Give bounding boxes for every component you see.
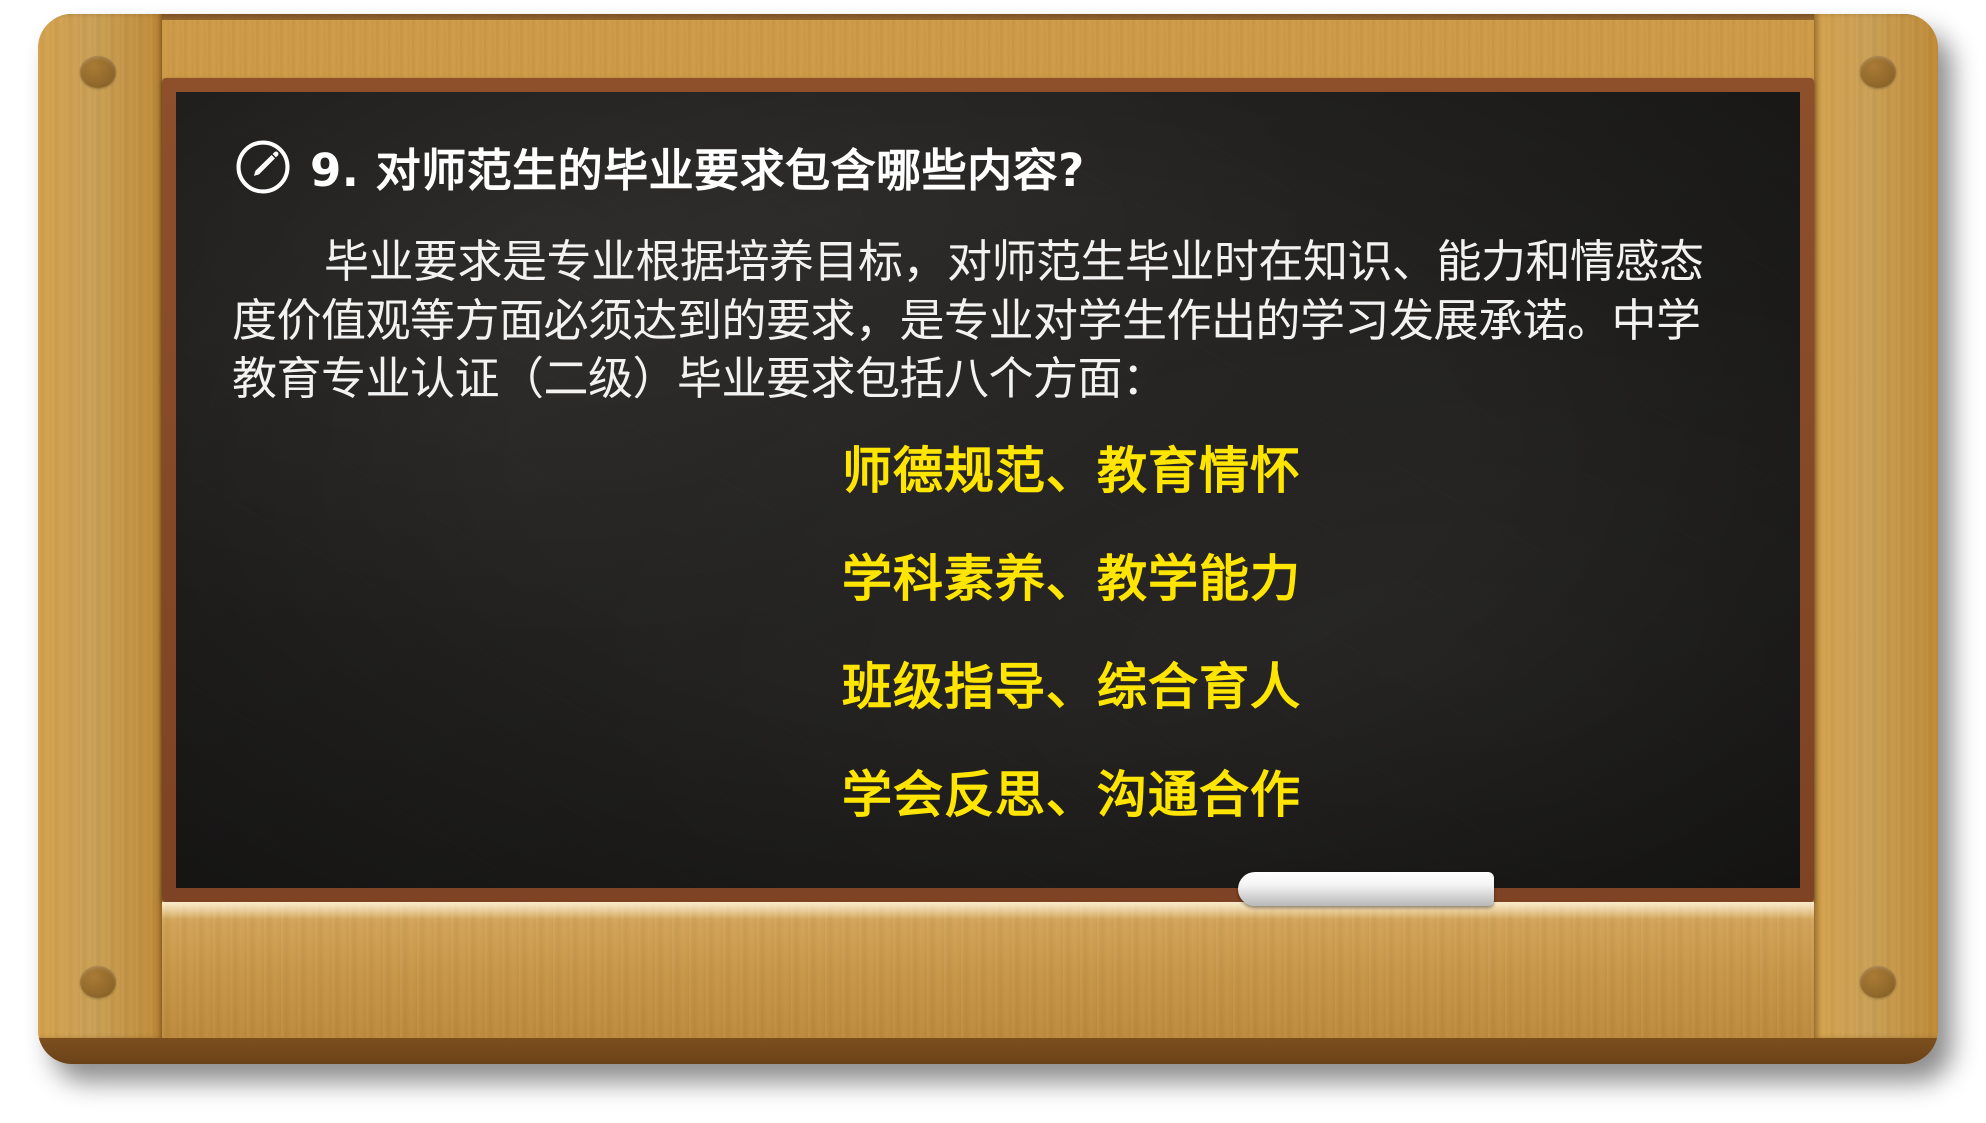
pencil-circle-icon [234,138,292,196]
slide-content: 9. 对师范生的毕业要求包含哪些内容? 毕业要求是专业根据培养目标，对师范生毕业… [176,92,1800,888]
list-item: 班级指导、综合育人 [842,647,1301,719]
page-title: 9. 对师范生的毕业要求包含哪些内容? [310,134,1085,199]
frame-top-lip [38,14,1938,20]
ledge-highlight [162,902,1814,918]
list-item: 师德规范、教育情怀 [842,431,1301,503]
list-item: 学科素养、教学能力 [842,539,1301,611]
frame-left-post [38,14,162,1038]
screw-top-right-icon [1860,56,1896,88]
screw-bottom-right-icon [1860,966,1896,998]
chalk-ledge [162,902,1814,1038]
slide-title-row: 9. 对师范生的毕业要求包含哪些内容? [234,134,1754,199]
frame-bottom-lip [38,1038,1938,1064]
blackboard-bezel: 9. 对师范生的毕业要求包含哪些内容? 毕业要求是专业根据培养目标，对师范生毕业… [162,78,1814,902]
blackboard-slate: 9. 对师范生的毕业要求包含哪些内容? 毕业要求是专业根据培养目标，对师范生毕业… [176,92,1800,888]
screw-bottom-left-icon [80,966,116,998]
highlight-list: 师德规范、教育情怀 学科素养、教学能力 班级指导、综合育人 学会反思、沟通合作 [222,431,1754,827]
chalk-stick [1238,872,1494,906]
slide-canvas: 9. 对师范生的毕业要求包含哪些内容? 毕业要求是专业根据培养目标，对师范生毕业… [0,0,1986,1123]
list-item: 学会反思、沟通合作 [842,755,1301,827]
slide-paragraph: 毕业要求是专业根据培养目标，对师范生毕业时在知识、能力和情感态度价值观等方面必须… [222,233,1754,409]
screw-top-left-icon [80,56,116,88]
frame-right-post [1814,14,1938,1038]
blackboard-frame: 9. 对师范生的毕业要求包含哪些内容? 毕业要求是专业根据培养目标，对师范生毕业… [38,14,1938,1064]
